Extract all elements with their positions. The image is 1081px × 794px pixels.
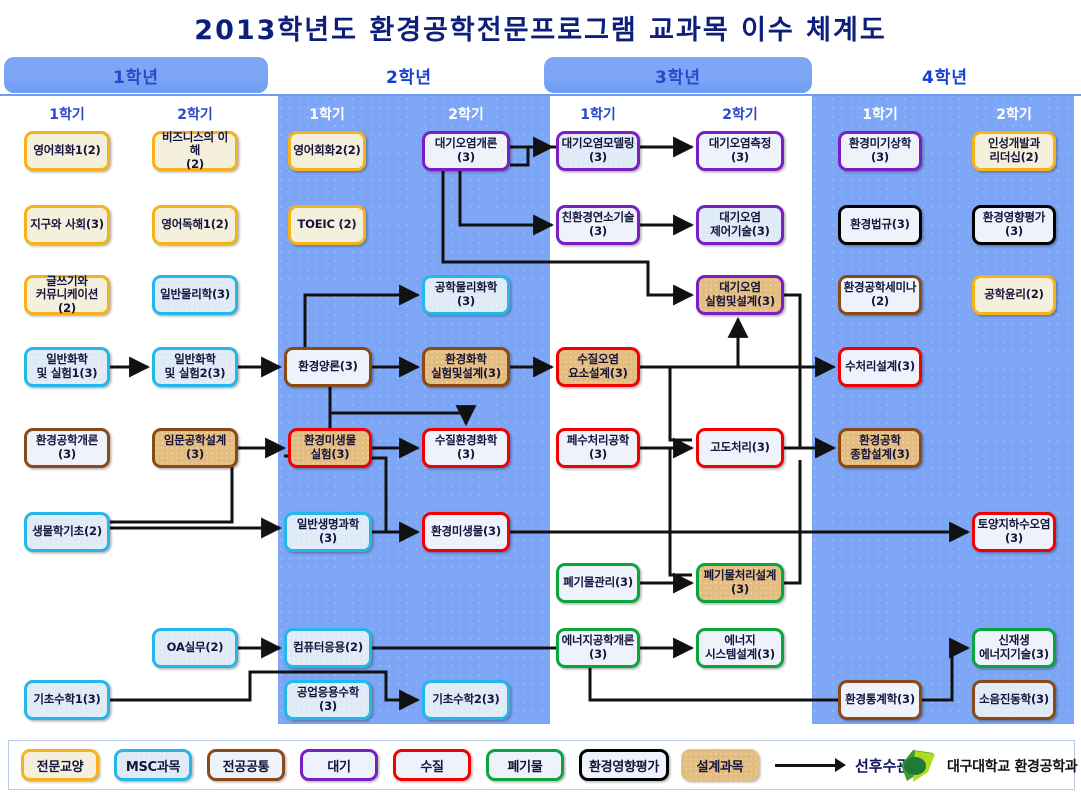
course-label: 고도처리(3) [710, 441, 769, 455]
course-box-y4s2e[interactable]: 신재생에너지기술(3) [972, 628, 1056, 668]
course-label: 글쓰기와커뮤니케이션(2) [29, 275, 105, 316]
course-label: 대기오염제어기술(3) [710, 211, 769, 238]
course-label: 친환경연소기술(3) [562, 211, 635, 238]
course-label: 토양지하수오염(3) [978, 518, 1051, 545]
course-label: 환경화학실험및설계(3) [431, 353, 501, 380]
course-label: 비즈니스의 이해(2) [157, 131, 233, 172]
course-label: 생물학기초(2) [32, 525, 102, 539]
course-box-y1s2f[interactable]: OA실무(2) [152, 628, 238, 668]
course-label: 환경법규(3) [850, 218, 909, 232]
course-box-y4s2a[interactable]: 인성개발과리더십(2) [972, 131, 1056, 171]
legend-chip-2: 전공공통 [207, 749, 285, 781]
course-box-y1s2a[interactable]: 비즈니스의 이해(2) [152, 131, 238, 171]
course-label: 대기오염모델링(3) [562, 137, 635, 164]
course-box-y4s1b[interactable]: 환경법규(3) [838, 205, 922, 245]
relation-arrow-head [835, 758, 846, 772]
legend-chip-7: 설계과목 [681, 749, 759, 781]
course-label: 공업응용수학(3) [289, 686, 367, 713]
course-box-y3s1d[interactable]: 페수처리공학(3) [556, 428, 640, 468]
legend-chip-3: 대기 [300, 749, 378, 781]
course-label: 환경미생물실험(3) [304, 434, 356, 461]
course-label: 기초수학1(3) [33, 693, 100, 707]
course-label: 수질오염요소설계(3) [568, 353, 627, 380]
course-box-y4s1a[interactable]: 환경미기상학(3) [838, 131, 922, 171]
course-label: 지구와 사회(3) [30, 218, 104, 232]
course-box-y1s1f[interactable]: 생물학기초(2) [24, 512, 110, 552]
course-box-y3s2e[interactable]: 폐기물처리설계(3) [696, 563, 784, 603]
course-label: 폐기물관리(3) [563, 576, 633, 590]
course-box-y4s1f[interactable]: 환경통계학(3) [838, 680, 922, 720]
course-label: 환경미생물(3) [431, 525, 501, 539]
course-box-y1s1d[interactable]: 일반화학및 실험1(3) [24, 347, 110, 387]
course-box-y4s2c[interactable]: 공학윤리(2) [972, 275, 1056, 315]
course-box-y2s1c[interactable]: 환경양론(3) [284, 347, 372, 387]
course-label: 영어회화2(2) [293, 144, 360, 158]
course-box-y2s1e[interactable]: 일반생명과학(3) [284, 512, 372, 552]
course-label: 공학윤리(2) [984, 288, 1043, 302]
course-box-y2s2c[interactable]: 환경화학실험및설계(3) [422, 347, 510, 387]
legend-chip-1: MSC과목 [114, 749, 192, 781]
course-label: 에너지공학개론(3) [562, 634, 635, 661]
course-box-y1s1b[interactable]: 지구와 사회(3) [24, 205, 110, 245]
legend-chip-0: 전문교양 [21, 749, 99, 781]
course-label: TOEIC (2) [298, 218, 357, 232]
course-box-y2s1g[interactable]: 공업응용수학(3) [284, 680, 372, 720]
course-label: 일반화학및 실험1(3) [37, 353, 98, 380]
course-box-y4s2b[interactable]: 환경영향평가(3) [972, 205, 1056, 245]
course-label: 환경양론(3) [298, 360, 357, 374]
course-box-y3s1f[interactable]: 에너지공학개론(3) [556, 628, 640, 668]
course-label: 컴퓨터응용(2) [293, 641, 363, 655]
course-box-y2s1d[interactable]: 환경미생물실험(3) [288, 428, 372, 468]
course-box-y3s2b[interactable]: 대기오염제어기술(3) [696, 205, 784, 245]
course-label: 환경통계학(3) [845, 693, 915, 707]
course-box-y3s2d[interactable]: 고도처리(3) [696, 428, 784, 468]
course-label: 대기오염실험및설계(3) [705, 281, 775, 308]
course-label: 공학물리화학(3) [427, 281, 505, 308]
course-label: 소음진동학(3) [979, 693, 1049, 707]
course-label: 에너지시스템설계(3) [705, 634, 775, 661]
course-box-y4s1d[interactable]: 수처리설계(3) [838, 347, 922, 387]
course-label: 수처리설계(3) [845, 360, 915, 374]
course-label: 대기오염개론(3) [427, 137, 505, 164]
course-box-y3s1e[interactable]: 폐기물관리(3) [556, 563, 640, 603]
course-label: OA실무(2) [167, 641, 224, 655]
relation-arrow-line [775, 764, 837, 767]
prerequisite-connectors [0, 0, 1081, 794]
course-box-y1s1g[interactable]: 기초수학1(3) [24, 680, 110, 720]
legend: 전문교양MSC과목전공공통대기수질폐기물환경영향평가설계과목 선후수관계 대구대… [8, 740, 1075, 790]
course-box-y1s2b[interactable]: 영어독해1(2) [152, 205, 238, 245]
course-box-y1s1a[interactable]: 영어회화1(2) [24, 131, 110, 171]
course-label: 신재생에너지기술(3) [979, 634, 1049, 661]
course-box-y4s1c[interactable]: 환경공학세미나(2) [838, 275, 922, 315]
course-box-y2s1b[interactable]: TOEIC (2) [288, 205, 366, 245]
course-label: 일반물리학(3) [160, 288, 230, 302]
course-box-y2s1f[interactable]: 컴퓨터응용(2) [284, 628, 372, 668]
course-box-y3s2f[interactable]: 에너지시스템설계(3) [696, 628, 784, 668]
course-box-y2s2e[interactable]: 환경미생물(3) [422, 512, 510, 552]
course-label: 폐기물처리설계(3) [704, 569, 777, 596]
course-label: 수질환경화학(3) [427, 434, 505, 461]
course-box-y4s2d[interactable]: 토양지하수오염(3) [972, 512, 1056, 552]
university-logo-icon [895, 749, 939, 783]
legend-chip-4: 수질 [393, 749, 471, 781]
university-name: 대구대학교 환경공학과 [947, 756, 1077, 776]
course-box-y3s1c[interactable]: 수질오염요소설계(3) [556, 347, 640, 387]
legend-chip-6: 환경영향평가 [579, 749, 669, 781]
course-box-y2s2d[interactable]: 수질환경화학(3) [422, 428, 510, 468]
course-label: 기초수학2(3) [432, 693, 499, 707]
course-box-y1s2e[interactable]: 임문공학설계(3) [152, 428, 238, 468]
curriculum-flowchart: 2013학년도 환경공학전문프로그램 교과목 이수 체계도 1학년 2학년 3학… [0, 0, 1081, 794]
course-box-y4s1e[interactable]: 환경공학종합설계(3) [838, 428, 922, 468]
course-box-y1s1e[interactable]: 환경공학개론(3) [24, 428, 110, 468]
course-box-y3s1a[interactable]: 대기오염모델링(3) [556, 131, 640, 171]
course-box-y1s1c[interactable]: 글쓰기와커뮤니케이션(2) [24, 275, 110, 315]
course-label: 환경공학종합설계(3) [850, 434, 909, 461]
course-box-y4s2f[interactable]: 소음진동학(3) [972, 680, 1056, 720]
course-box-y2s2b[interactable]: 공학물리화학(3) [422, 275, 510, 315]
course-box-y2s2f[interactable]: 기초수학2(3) [422, 680, 510, 720]
course-box-y2s2a[interactable]: 대기오염개론(3) [422, 131, 510, 171]
course-label: 인성개발과리더십(2) [988, 137, 1040, 164]
course-label: 영어독해1(2) [161, 218, 228, 232]
course-box-y1s2c[interactable]: 일반물리학(3) [152, 275, 238, 315]
course-box-y3s2a[interactable]: 대기오염측정(3) [696, 131, 784, 171]
course-label: 환경공학세미나(2) [844, 281, 917, 308]
course-label: 페수처리공학(3) [561, 434, 635, 461]
course-label: 임문공학설계(3) [157, 434, 233, 461]
legend-chip-5: 폐기물 [486, 749, 564, 781]
course-label: 일반화학및 실험2(3) [165, 353, 226, 380]
course-label: 환경공학개론(3) [29, 434, 105, 461]
course-box-y3s1b[interactable]: 친환경연소기술(3) [556, 205, 640, 245]
course-box-y1s2d[interactable]: 일반화학및 실험2(3) [152, 347, 238, 387]
course-box-y3s2c[interactable]: 대기오염실험및설계(3) [696, 275, 784, 315]
course-label: 영어회화1(2) [33, 144, 100, 158]
course-label: 환경미기상학(3) [843, 137, 917, 164]
course-label: 환경영향평가(3) [977, 211, 1051, 238]
course-box-y2s1a[interactable]: 영어회화2(2) [288, 131, 366, 171]
course-label: 대기오염측정(3) [701, 137, 779, 164]
course-label: 일반생명과학(3) [289, 518, 367, 545]
